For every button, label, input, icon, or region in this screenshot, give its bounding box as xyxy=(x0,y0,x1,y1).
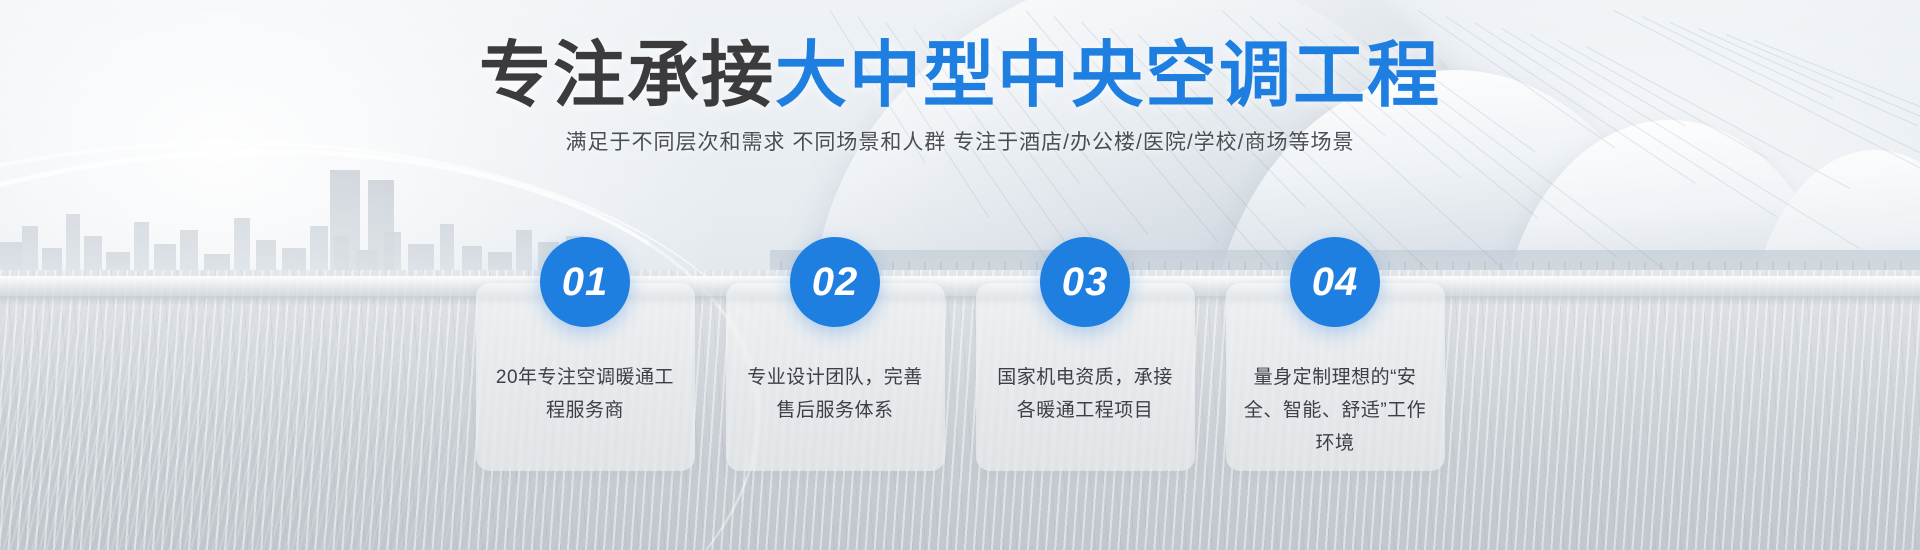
feature-badge-number: 02 xyxy=(790,237,880,327)
feature-card[interactable]: 01 20年专注空调暖通工程服务商 xyxy=(476,283,695,471)
feature-card[interactable]: 04 量身定制理想的“安全、智能、舒适”工作环境 xyxy=(1226,283,1445,471)
page-title: 专注承接大中型中央空调工程 xyxy=(0,38,1920,114)
feature-badge-number: 03 xyxy=(1040,237,1130,327)
headline-dark-text: 专注承接 xyxy=(479,36,775,116)
hero-banner: 专注承接大中型中央空调工程 满足于不同层次和需求 不同场景和人群 专注于酒店/办… xyxy=(0,0,1920,550)
feature-card[interactable]: 03 国家机电资质，承接各暖通工程项目 xyxy=(976,283,1195,471)
feature-card-text: 国家机电资质，承接各暖通工程项目 xyxy=(992,361,1179,427)
feature-badge-number: 04 xyxy=(1290,237,1380,327)
page-subtitle: 满足于不同层次和需求 不同场景和人群 专注于酒店/办公楼/医院/学校/商场等场景 xyxy=(0,128,1920,158)
feature-card-text: 量身定制理想的“安全、智能、舒适”工作环境 xyxy=(1242,361,1429,460)
feature-card-text: 20年专注空调暖通工程服务商 xyxy=(492,361,679,427)
feature-badge-number: 01 xyxy=(540,237,630,327)
feature-card[interactable]: 02 专业设计团队，完善售后服务体系 xyxy=(726,283,945,471)
feature-card-list: 01 20年专注空调暖通工程服务商 02 专业设计团队，完善售后服务体系 03 … xyxy=(0,228,1920,448)
feature-card-text: 专业设计团队，完善售后服务体系 xyxy=(742,361,929,427)
headline-blue-text: 大中型中央空调工程 xyxy=(775,36,1441,116)
